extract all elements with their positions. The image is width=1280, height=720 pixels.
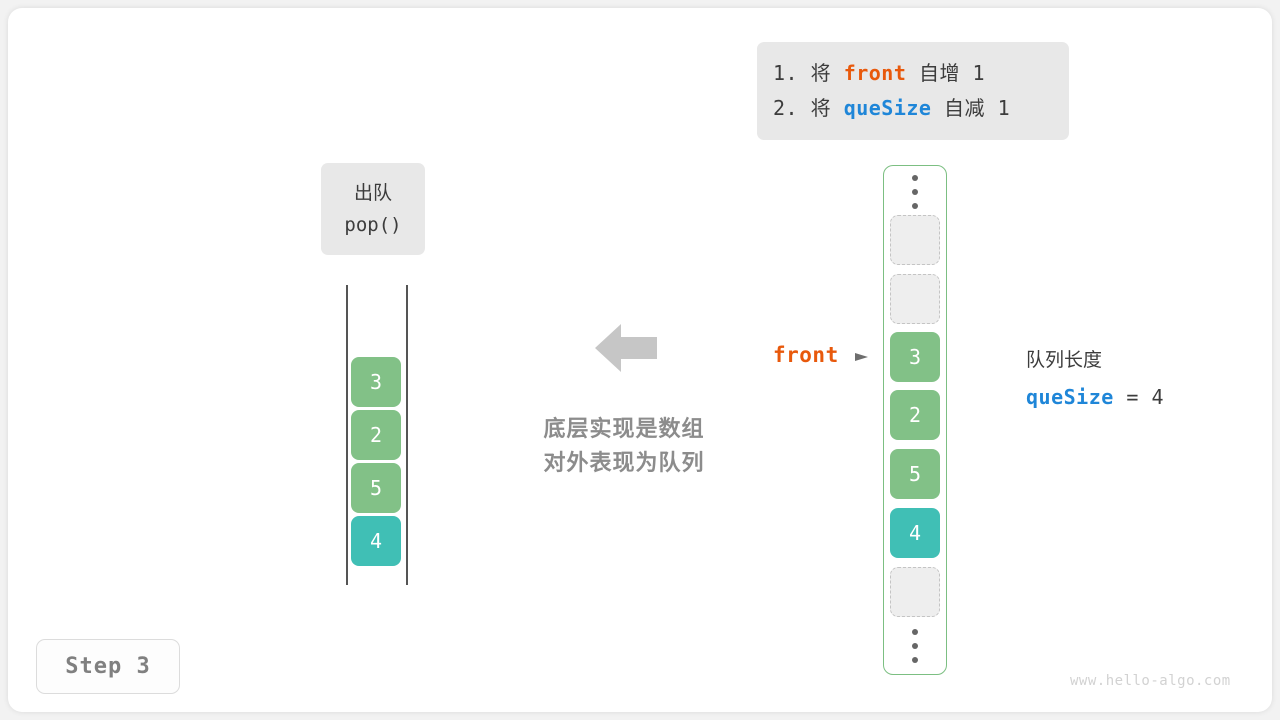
array-cell: 3 <box>890 332 940 382</box>
instruction-2-keyword: queSize <box>844 96 932 120</box>
operation-label-box: 出队 pop() <box>321 163 425 255</box>
array-cell: 4 <box>890 508 940 558</box>
instruction-2-value: 1 <box>998 96 1011 120</box>
step-badge: Step 3 <box>36 639 180 694</box>
instruction-1-prefix: 将 <box>811 61 832 85</box>
diagram-canvas: 1. 将 front 自增 1 2. 将 queSize 自减 1 出队 pop… <box>0 0 1280 720</box>
front-arrow-icon <box>855 350 869 364</box>
instruction-1-value: 1 <box>973 61 986 85</box>
caption-line-2: 对外表现为队列 <box>528 446 720 480</box>
array-ellipsis-icon <box>908 629 922 663</box>
diagram-caption: 底层实现是数组 对外表现为队列 <box>528 412 720 480</box>
step-badge-text: Step 3 <box>65 654 150 679</box>
queue-cell: 3 <box>351 357 401 407</box>
left-arrow-icon <box>595 322 657 374</box>
queue-cell: 2 <box>351 410 401 460</box>
instruction-line-1: 1. 将 front 自增 1 <box>773 56 1069 91</box>
queue-size-expression: queSize = 4 <box>1026 379 1164 416</box>
array-ellipsis-icon <box>908 175 922 209</box>
queue-rail-left <box>346 285 348 585</box>
array-cell-empty <box>890 215 940 265</box>
operation-title: 出队 <box>321 177 425 209</box>
instruction-1-keyword: front <box>844 61 907 85</box>
array-cell-empty <box>890 567 940 617</box>
queue-size-note: 队列长度 queSize = 4 <box>1026 342 1164 416</box>
instruction-line-2: 2. 将 queSize 自减 1 <box>773 91 1069 126</box>
instruction-box: 1. 将 front 自增 1 2. 将 queSize 自减 1 <box>757 42 1069 140</box>
queue-size-varname: queSize <box>1026 385 1114 409</box>
front-pointer-label: front <box>773 343 839 367</box>
queue-size-value: 4 <box>1151 385 1164 409</box>
queue-cell: 5 <box>351 463 401 513</box>
instruction-1-suffix: 自增 <box>919 61 960 85</box>
queue-size-label: 队列长度 <box>1026 342 1164 379</box>
array-cell: 5 <box>890 449 940 499</box>
queue-size-equals: = <box>1126 385 1139 409</box>
watermark: www.hello-algo.com <box>1070 673 1231 689</box>
array-cell: 2 <box>890 390 940 440</box>
caption-line-1: 底层实现是数组 <box>528 412 720 446</box>
operation-method: pop() <box>321 209 425 241</box>
queue-rail-right <box>406 285 408 585</box>
instruction-2-suffix: 自减 <box>944 96 985 120</box>
array-cell-empty <box>890 274 940 324</box>
instruction-2-prefix: 将 <box>811 96 832 120</box>
queue-cell: 4 <box>351 516 401 566</box>
instruction-1-index: 1. <box>773 61 798 85</box>
instruction-2-index: 2. <box>773 96 798 120</box>
